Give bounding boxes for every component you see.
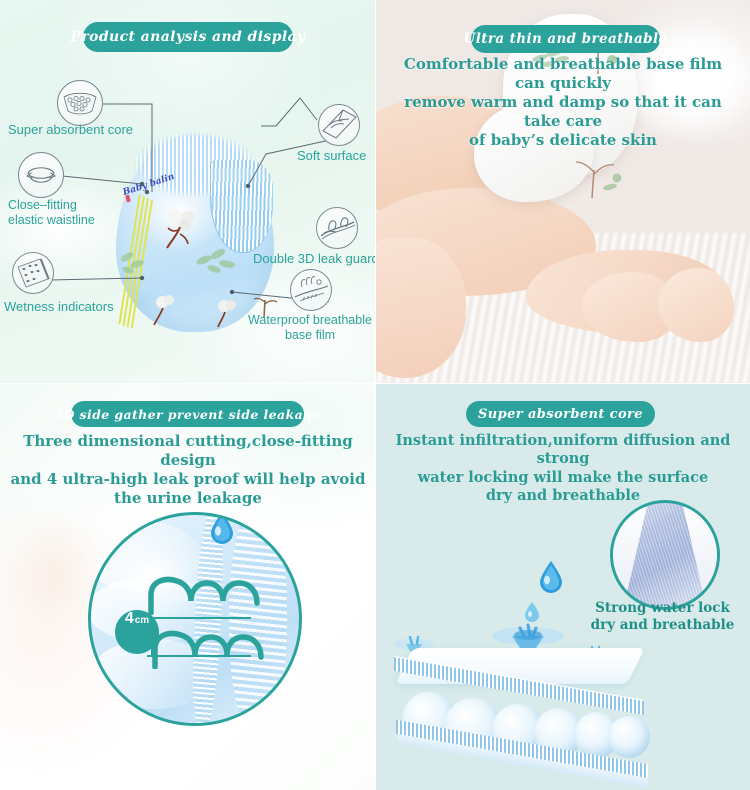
water-droplet-icon	[209, 512, 235, 545]
gather-wave-bottom	[151, 627, 271, 669]
caption-line-1: Strong water lock	[575, 600, 750, 617]
soft-surface-icon	[318, 104, 360, 146]
callout-soft-surface: Soft surface	[297, 148, 366, 163]
panel-product-analysis: Product analysis and display	[0, 0, 375, 383]
callout-label-line1: Close–fitting	[8, 198, 158, 213]
side-gather-closeup-circle: 4 cm	[88, 512, 302, 726]
measurement-line-bottom	[147, 655, 251, 657]
water-droplet-icon	[538, 560, 564, 594]
water-lock-closeup-circle	[610, 500, 720, 610]
callout-label-line1: Waterproof breathable	[248, 313, 372, 328]
headline-line-3: of baby’s delicate skin	[388, 131, 738, 150]
headline-line-2: remove warm and damp so that it can take…	[388, 93, 738, 131]
gel-bead	[608, 716, 650, 758]
headline-line-2: and 4 ultra-high leak proof will help av…	[10, 470, 366, 489]
callout-close-fitting-elastic-waistline: Close–fitting elastic waistline	[8, 198, 158, 228]
gather-wave-top	[147, 573, 267, 615]
absorbent-core-icon	[57, 80, 103, 126]
callout-label: Double 3D leak guard	[253, 251, 375, 266]
panel-ultra-thin-breathable: Ultra thin and breathable Comfortable an…	[376, 0, 750, 383]
leak-guard-icon	[316, 207, 358, 249]
baby-foot-far	[658, 268, 734, 342]
absorbent-core-cross-section	[400, 630, 700, 780]
headline-side-gather: Three dimensional cutting,close-fitting …	[10, 432, 366, 508]
callout-label: Super absorbent core	[8, 122, 133, 137]
gather-ridge	[229, 512, 287, 726]
measurement-unit: cm	[135, 615, 149, 626]
headline-line-1: Instant infiltration,uniform diffusion a…	[388, 432, 738, 469]
wetness-indicator-icon	[12, 252, 54, 294]
badge-side-gather: 3D side gather prevent side leakage	[71, 401, 304, 427]
water-droplet-icon	[524, 601, 540, 623]
headline-line-3: the urine leakage	[10, 489, 366, 508]
badge-ultra-thin-label: Ultra thin and breathable	[464, 31, 668, 47]
diaper-branch-print	[572, 150, 628, 200]
callout-label-line2: base film	[248, 328, 372, 343]
badge-side-gather-label: 3D side gather prevent side leakage	[54, 407, 320, 422]
callout-waterproof-breathable-base-film: Waterproof breathable base film	[248, 313, 372, 343]
badge-absorbent-core: Super absorbent core	[466, 401, 655, 427]
callout-super-absorbent-core: Super absorbent core	[8, 122, 133, 137]
badge-absorbent-core-label: Super absorbent core	[478, 407, 643, 422]
elastic-waistline-icon	[18, 152, 64, 198]
badge-ultra-thin: Ultra thin and breathable	[471, 25, 660, 53]
measurement-badge-4cm: 4 cm	[115, 610, 159, 654]
callout-label-line2: elastic waistline	[8, 213, 158, 228]
callout-label: Soft surface	[297, 148, 366, 163]
callout-double-3d-leak-guard: Double 3D leak guard	[253, 251, 375, 266]
headline-ultra-thin: Comfortable and breathable base film can…	[388, 55, 738, 149]
base-film-icon	[290, 269, 332, 311]
headline-line-1: Three dimensional cutting,close-fitting …	[10, 432, 366, 470]
measurement-line-top	[147, 617, 251, 619]
infographic-sheet: Product analysis and display	[0, 0, 750, 790]
headline-line-2: water locking will make the surface	[388, 469, 738, 487]
measurement-value: 4	[125, 610, 134, 628]
caption-strong-water-lock: Strong water lock dry and breathable	[575, 600, 750, 634]
headline-line-1: Comfortable and breathable base film can…	[388, 55, 738, 93]
callout-wetness-indicators: Wetness indicators	[4, 299, 114, 314]
callout-label: Wetness indicators	[4, 299, 114, 314]
headline-absorbent-core: Instant infiltration,uniform diffusion a…	[388, 432, 738, 505]
